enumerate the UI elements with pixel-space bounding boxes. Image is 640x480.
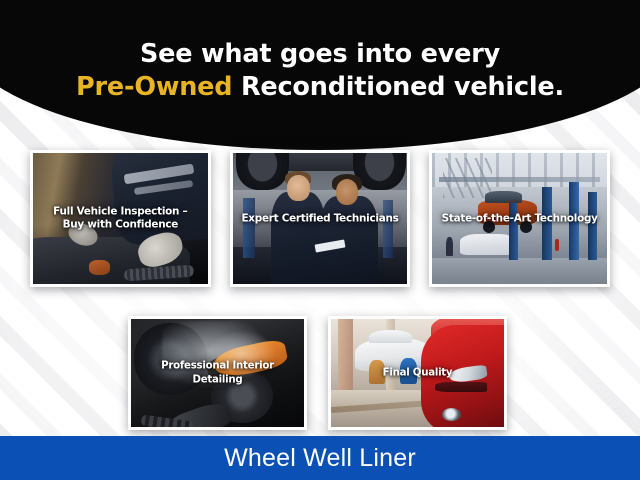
- card-caption-line-1: State-of-the-Art Technology: [442, 212, 598, 224]
- card-professional-interior-detailing[interactable]: Professional Interior Detailing: [128, 316, 307, 430]
- card-row-bottom: Professional Interior Detailing Final: [128, 316, 507, 430]
- card-caption: Final Quality: [331, 366, 504, 380]
- card-caption-line-2: Buy with Confidence: [63, 219, 178, 231]
- card-row-top: Full Vehicle Inspection – Buy with Confi…: [30, 150, 610, 287]
- card-caption: Expert Certified Technicians: [233, 212, 408, 226]
- card-caption-line-1: Full Vehicle Inspection –: [53, 205, 187, 217]
- card-caption: State-of-the-Art Technology: [432, 212, 607, 226]
- card-expert-certified-technicians[interactable]: Expert Certified Technicians: [230, 150, 411, 287]
- card-caption-line-1: Professional Interior: [161, 361, 274, 372]
- bottom-banner-title: Wheel Well Liner: [224, 444, 416, 473]
- card-caption-line-1: Final Quality: [383, 367, 453, 378]
- card-caption: Full Vehicle Inspection – Buy with Confi…: [33, 205, 208, 232]
- card-caption-line-1: Expert Certified Technicians: [241, 212, 398, 224]
- card-caption: Professional Interior Detailing: [131, 360, 304, 387]
- infographic-stage: See what goes into every Pre-Owned Recon…: [0, 0, 640, 480]
- headline-line-2-rest: Reconditioned vehicle.: [232, 72, 564, 102]
- card-caption-line-2: Detailing: [193, 374, 243, 385]
- headline-line-2: Pre-Owned Reconditioned vehicle.: [0, 71, 640, 104]
- card-full-vehicle-inspection[interactable]: Full Vehicle Inspection – Buy with Confi…: [30, 150, 211, 287]
- headline-line-1: See what goes into every: [0, 38, 640, 71]
- headline-highlight-pre-owned: Pre-Owned: [76, 72, 232, 102]
- header-text-block: See what goes into every Pre-Owned Recon…: [0, 38, 640, 104]
- bottom-banner: Wheel Well Liner: [0, 436, 640, 480]
- card-state-of-the-art-technology[interactable]: State-of-the-Art Technology: [429, 150, 610, 287]
- headline: See what goes into every Pre-Owned Recon…: [0, 38, 640, 104]
- card-final-quality[interactable]: Final Quality: [328, 316, 507, 430]
